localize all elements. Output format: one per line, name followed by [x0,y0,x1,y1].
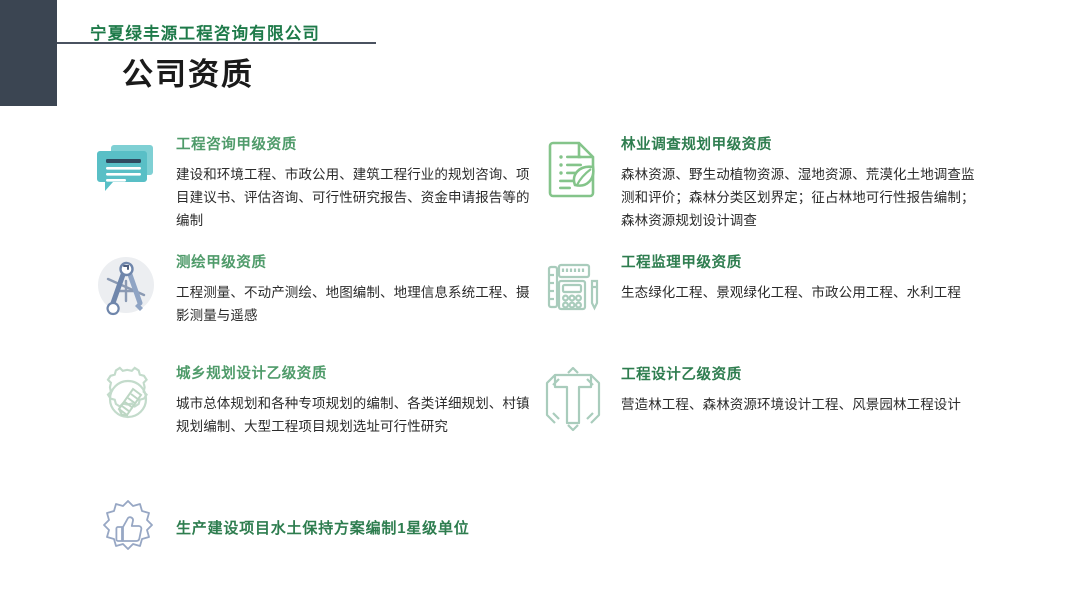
qualification-text: 城乡规划设计乙级资质 城市总体规划和各种专项规划的编制、各类详细规划、村镇规划编… [176,362,542,438]
qualification-text: 生产建设项目水土保持方案编制1星级单位 [176,517,542,538]
qualification-text: 工程设计乙级资质 营造林工程、森林资源环境设计工程、风景园林工程设计 [621,363,987,416]
qualification-title: 生产建设项目水土保持方案编制1星级单位 [176,517,542,538]
qualification-description: 生态绿化工程、景观绿化工程、市政公用工程、水利工程 [621,281,987,304]
qualification-title: 工程设计乙级资质 [621,363,987,384]
qualification-text: 林业调查规划甲级资质 森林资源、野生动植物资源、湿地资源、荒漠化土地调查监测和评… [621,133,987,233]
qualification-description: 营造林工程、森林资源环境设计工程、风景园林工程设计 [621,393,987,416]
gear-pen-icon [92,362,164,434]
qualification-title: 城乡规划设计乙级资质 [176,362,542,383]
qualification-text: 工程监理甲级资质 生态绿化工程、景观绿化工程、市政公用工程、水利工程 [621,251,987,304]
corner-decoration-block [0,0,57,106]
qualification-description: 森林资源、野生动植物资源、湿地资源、荒漠化土地调查监测和评价；森林分类区划界定；… [621,163,987,233]
compass-divider-icon [92,251,164,323]
document-leaf-icon [537,133,609,205]
company-name: 宁夏绿丰源工程咨询有限公司 [90,20,320,44]
slide-root: 宁夏绿丰源工程咨询有限公司 公司资质 [0,0,1080,607]
qualifications-columns: 工程咨询甲级资质 建设和环境工程、市政公用、建筑工程行业的规划咨询、项目建议书、… [0,125,1080,595]
qualification-title: 工程咨询甲级资质 [176,133,542,154]
qualification-title: 测绘甲级资质 [176,251,542,272]
qualification-text: 工程咨询甲级资质 建设和环境工程、市政公用、建筑工程行业的规划咨询、项目建议书、… [176,133,542,233]
qualification-title: 工程监理甲级资质 [621,251,987,272]
speech-bubbles-icon [92,133,164,205]
calculator-ruler-icon [537,251,609,323]
structure-beam-icon [537,363,609,435]
slide-header: 宁夏绿丰源工程咨询有限公司 公司资质 [57,0,1080,110]
thumbs-up-badge-icon [92,493,164,565]
header-divider [57,42,376,44]
qualification-description: 城市总体规划和各种专项规划的编制、各类详细规划、村镇规划编制、大型工程项目规划选… [176,392,542,438]
page-title: 公司资质 [122,49,254,94]
qualification-description: 工程测量、不动产测绘、地图编制、地理信息系统工程、摄影测量与遥感 [176,281,542,327]
qualification-title: 林业调查规划甲级资质 [621,133,987,154]
qualification-description: 建设和环境工程、市政公用、建筑工程行业的规划咨询、项目建议书、评估咨询、可行性研… [176,163,542,233]
qualification-text: 测绘甲级资质 工程测量、不动产测绘、地图编制、地理信息系统工程、摄影测量与遥感 [176,251,542,327]
